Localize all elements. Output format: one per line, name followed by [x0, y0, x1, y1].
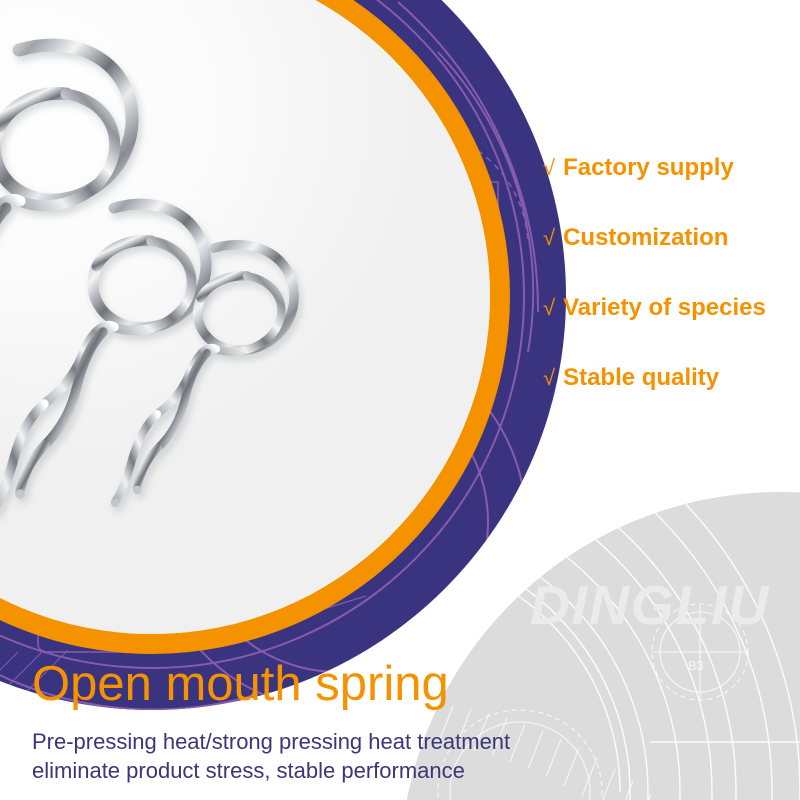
medium-r-clip — [0, 204, 206, 514]
check-icon: √ — [543, 367, 555, 389]
svg-text:B3: B3 — [688, 658, 704, 673]
feature-label: Customization — [563, 226, 728, 250]
feature-label: Factory supply — [563, 156, 734, 180]
check-icon: √ — [543, 157, 555, 179]
product-banner: B3 DINGLIU — [0, 0, 800, 800]
feature-item-customization: √ Customization — [543, 226, 793, 250]
feature-list: √ Factory supply √ Customization √ Varie… — [543, 156, 793, 390]
page-subtitle: Pre-pressing heat/strong pressing heat t… — [32, 727, 510, 785]
check-icon: √ — [543, 227, 555, 249]
brand-watermark: DINGLIU — [530, 578, 770, 633]
feature-label: Stable quality — [563, 366, 719, 390]
product-photo — [0, 0, 490, 634]
subtitle-line-2: eliminate product stress, stable perform… — [32, 756, 510, 785]
check-icon: √ — [543, 297, 555, 319]
page-title: Open mouth spring — [32, 659, 449, 711]
large-r-clip — [0, 45, 132, 432]
feature-label: Variety of species — [563, 296, 766, 320]
subtitle-line-1: Pre-pressing heat/strong pressing heat t… — [32, 727, 510, 756]
feature-item-variety-of-species: √ Variety of species — [543, 296, 793, 320]
feature-item-factory-supply: √ Factory supply — [543, 156, 793, 180]
r-clip-springs-photo-icon — [0, 0, 490, 634]
feature-item-stable-quality: √ Stable quality — [543, 366, 793, 390]
product-disc-stack: 2 1 60 K1 1 — [0, 0, 566, 710]
